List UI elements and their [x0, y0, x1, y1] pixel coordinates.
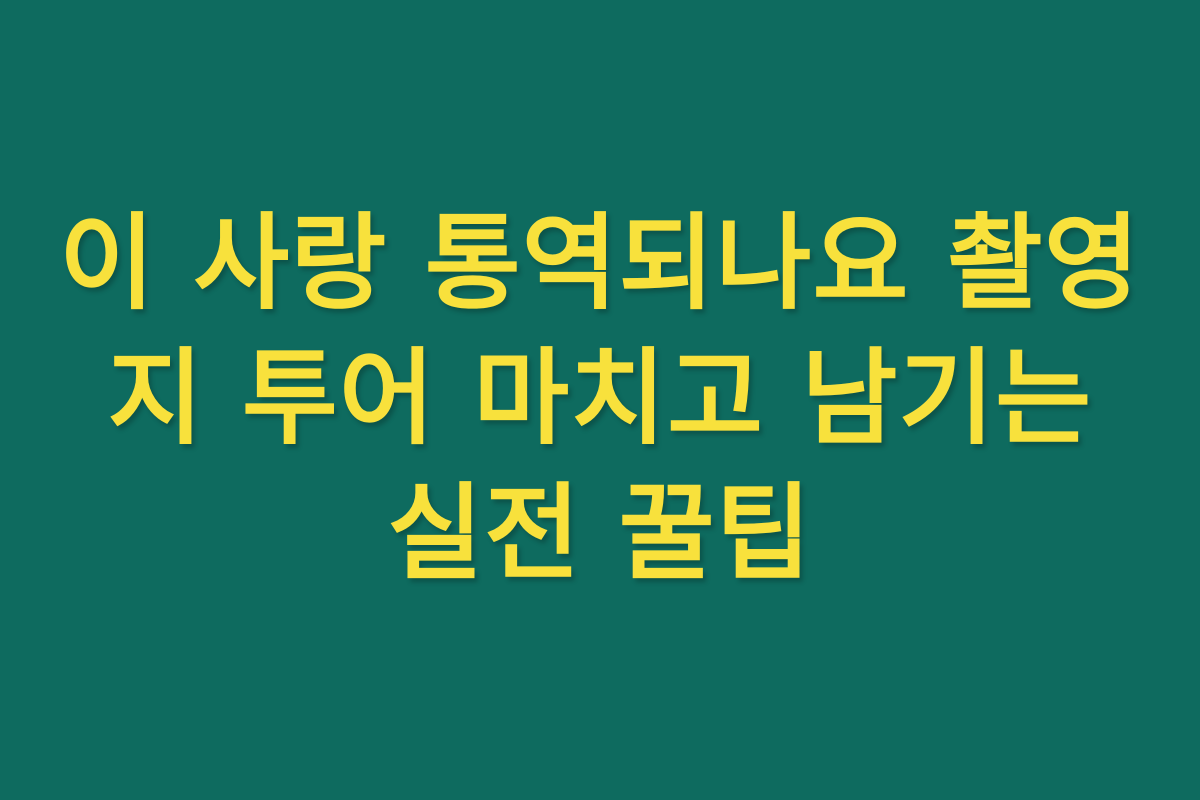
page-title: 이 사랑 통역되나요 촬영 지 투어 마치고 남기는 실전 꿀팁	[0, 196, 1200, 602]
headline-line-3: 실전 꿀팁	[28, 466, 1172, 601]
headline-line-1: 이 사랑 통역되나요 촬영	[28, 196, 1172, 331]
title-card: 이 사랑 통역되나요 촬영 지 투어 마치고 남기는 실전 꿀팁	[0, 0, 1200, 800]
headline-line-2: 지 투어 마치고 남기는	[28, 331, 1172, 466]
